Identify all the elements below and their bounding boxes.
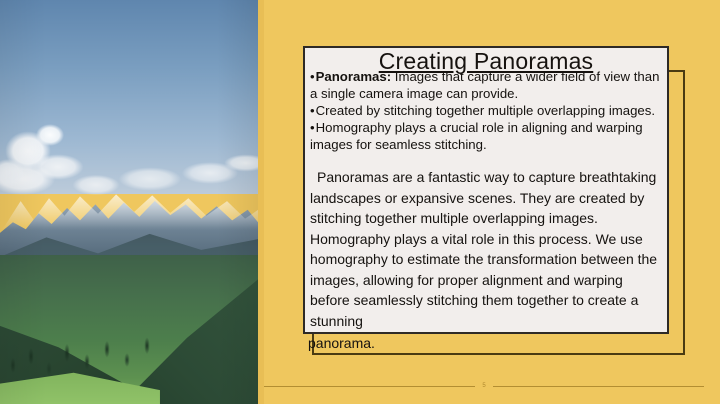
body-paragraph: Panoramas are a fantastic way to capture… xyxy=(305,167,667,331)
list-item: Created by stitching together multiple o… xyxy=(310,102,661,119)
list-item: Panoramas: Images that capture a wider f… xyxy=(310,68,661,102)
footer-rule-right xyxy=(493,386,704,387)
bullet-text: Created by stitching together multiple o… xyxy=(316,103,655,118)
slide-canvas: Creating Panoramas Panoramas: Images tha… xyxy=(0,0,720,404)
content-text-box: Creating Panoramas Panoramas: Images tha… xyxy=(303,46,669,334)
list-item: Homography plays a crucial role in align… xyxy=(310,119,661,153)
overflow-word: panorama. xyxy=(308,333,375,354)
photo-vignette xyxy=(0,0,258,404)
bullet-lead-label: Panoramas: xyxy=(316,69,392,84)
mountain-landscape-photo xyxy=(0,0,258,404)
slide-footer: 5 xyxy=(264,379,704,393)
bullet-list: Panoramas: Images that capture a wider f… xyxy=(305,68,667,153)
page-number: 5 xyxy=(481,383,487,390)
bullet-text: Homography plays a crucial role in align… xyxy=(310,120,643,152)
footer-rule-left xyxy=(264,386,475,387)
